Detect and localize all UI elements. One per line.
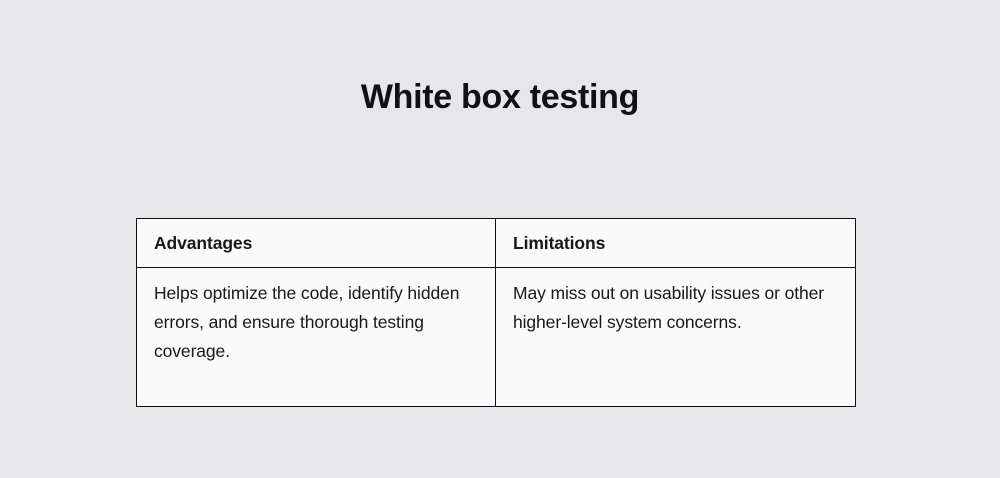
cell-limitations-body: May miss out on usability issues or othe… — [496, 268, 856, 407]
cell-advantages-body: Helps optimize the code, identify hidden… — [137, 268, 496, 407]
table-row: Helps optimize the code, identify hidden… — [137, 268, 856, 407]
table-header-row: Advantages Limitations — [137, 219, 856, 268]
column-header-advantages: Advantages — [137, 219, 496, 268]
comparison-table: Advantages Limitations Helps optimize th… — [136, 218, 856, 407]
page-title: White box testing — [0, 74, 1000, 120]
column-header-limitations: Limitations — [496, 219, 856, 268]
slide-canvas: White box testing Advantages Limitations… — [0, 0, 1000, 478]
